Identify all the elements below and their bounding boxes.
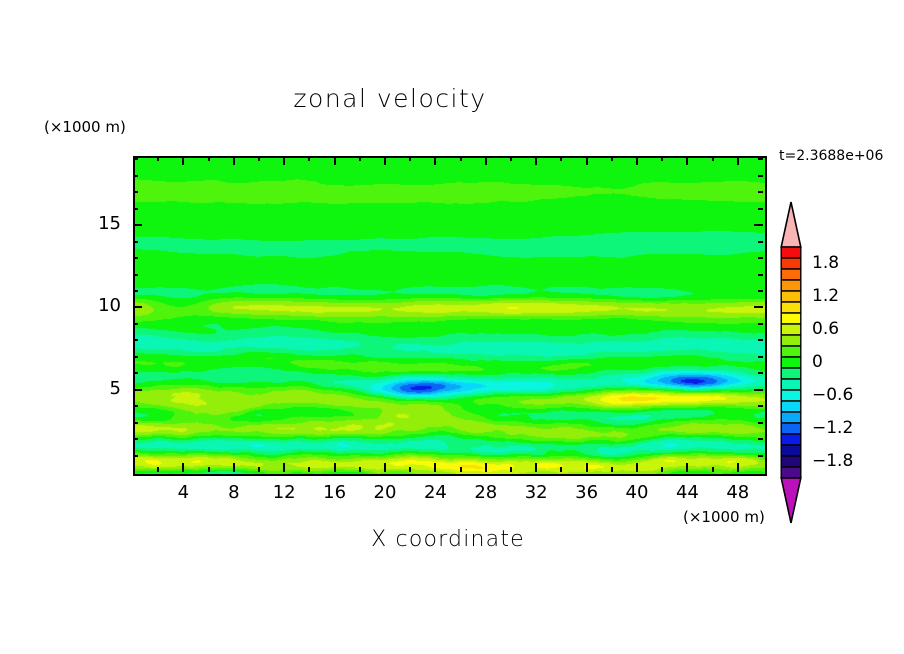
- y-tick: [133, 389, 142, 391]
- colorbar-band: [781, 357, 801, 368]
- colorbar-band: [781, 269, 801, 280]
- x-tick-label: 48: [716, 482, 760, 503]
- y-tick-right: [758, 405, 763, 407]
- colorbar-band: [781, 324, 801, 335]
- colorbar-tick-label: 1.2: [812, 286, 839, 306]
- colorbar-band: [781, 456, 801, 467]
- x-tick: [434, 463, 436, 472]
- x-tick-top: [283, 156, 285, 165]
- x-tick: [334, 463, 336, 472]
- x-tick-top: [712, 156, 714, 161]
- x-tick: [712, 467, 714, 472]
- colorbar-band: [781, 280, 801, 291]
- colorbar-band: [781, 423, 801, 434]
- x-tick-top: [560, 156, 562, 161]
- x-tick: [737, 463, 739, 472]
- velocity-field-heatmap: [135, 158, 765, 474]
- x-tick-top: [308, 156, 310, 161]
- colorbar-band: [781, 258, 801, 269]
- y-tick-right: [754, 306, 763, 308]
- colorbar-band: [781, 302, 801, 313]
- x-tick-label: 20: [363, 482, 407, 503]
- y-tick: [133, 257, 138, 259]
- y-tick: [133, 208, 138, 210]
- x-tick-top: [460, 156, 462, 161]
- x-tick: [409, 467, 411, 472]
- x-tick-label: 40: [615, 482, 659, 503]
- x-tick: [661, 467, 663, 472]
- x-tick-label: 4: [161, 482, 205, 503]
- x-tick-top: [686, 156, 688, 165]
- page-title: zonal velocity: [0, 84, 780, 113]
- colorbar-tick-label: −1.2: [812, 418, 853, 438]
- x-tick: [460, 467, 462, 472]
- colorbar-band: [781, 313, 801, 324]
- y-tick: [133, 339, 138, 341]
- x-tick-top: [586, 156, 588, 165]
- y-tick: [133, 422, 138, 424]
- y-tick: [133, 438, 138, 440]
- x-tick-label: 24: [413, 482, 457, 503]
- y-tick-right: [758, 208, 763, 210]
- x-tick-top: [208, 156, 210, 161]
- x-tick: [283, 463, 285, 472]
- x-tick-top: [737, 156, 739, 165]
- y-tick: [133, 323, 138, 325]
- y-tick: [133, 224, 142, 226]
- x-tick-label: 16: [313, 482, 357, 503]
- figure-canvas: zonal velocity (×1000 m) t=2.3688e+06 48…: [0, 0, 904, 654]
- x-tick-top: [535, 156, 537, 165]
- colorbar-band: [781, 412, 801, 423]
- plot-area: [133, 156, 767, 476]
- x-tick: [182, 463, 184, 472]
- colorbar-band: [781, 291, 801, 302]
- y-tick: [133, 405, 138, 407]
- colorbar-over-arrow: [781, 202, 801, 247]
- x-tick: [686, 463, 688, 472]
- y-tick-right: [758, 438, 763, 440]
- colorbar-tick-label: 1.8: [812, 253, 839, 273]
- y-tick: [133, 158, 138, 160]
- y-tick-right: [758, 422, 763, 424]
- colorbar-band: [781, 247, 801, 258]
- y-tick-right: [758, 257, 763, 259]
- y-tick-right: [758, 339, 763, 341]
- y-tick-right: [758, 274, 763, 276]
- y-tick-right: [754, 224, 763, 226]
- x-tick: [560, 467, 562, 472]
- y-tick: [133, 175, 138, 177]
- x-tick-label: 8: [212, 482, 256, 503]
- y-tick: [133, 306, 142, 308]
- y-tick-right: [758, 372, 763, 374]
- x-tick-label: 44: [665, 482, 709, 503]
- x-tick: [208, 467, 210, 472]
- x-tick-top: [434, 156, 436, 165]
- colorbar-under-arrow: [781, 478, 801, 523]
- y-tick-label: 10: [75, 295, 121, 316]
- x-tick-top: [636, 156, 638, 165]
- colorbar-tick-label: −1.8: [812, 451, 853, 471]
- colorbar: [780, 201, 802, 524]
- x-tick-top: [661, 156, 663, 161]
- x-tick: [359, 467, 361, 472]
- x-tick-label: 32: [514, 482, 558, 503]
- colorbar-band: [781, 390, 801, 401]
- x-axis-unit-label: (×1000 m): [683, 508, 765, 526]
- x-tick: [535, 463, 537, 472]
- x-tick-top: [485, 156, 487, 165]
- y-tick-right: [758, 158, 763, 160]
- y-tick: [133, 191, 138, 193]
- colorbar-band: [781, 445, 801, 456]
- x-tick-top: [157, 156, 159, 161]
- colorbar-band: [781, 434, 801, 445]
- y-tick-right: [758, 356, 763, 358]
- y-tick-label: 15: [75, 213, 121, 234]
- y-tick: [133, 241, 138, 243]
- x-tick-top: [611, 156, 613, 161]
- y-tick: [133, 274, 138, 276]
- colorbar-band: [781, 401, 801, 412]
- colorbar-band: [781, 346, 801, 357]
- y-axis-unit-label: (×1000 m): [44, 118, 126, 136]
- colorbar-band: [781, 368, 801, 379]
- y-tick-right: [758, 290, 763, 292]
- x-tick-label: 36: [565, 482, 609, 503]
- x-tick: [485, 463, 487, 472]
- colorbar-tick-label: 0: [812, 352, 823, 372]
- x-tick: [157, 467, 159, 472]
- x-tick-label: 28: [464, 482, 508, 503]
- x-tick: [586, 463, 588, 472]
- x-tick: [611, 467, 613, 472]
- y-tick-right: [758, 323, 763, 325]
- y-tick-label: 5: [75, 378, 121, 399]
- x-tick-top: [182, 156, 184, 165]
- y-tick: [133, 356, 138, 358]
- y-tick-right: [758, 175, 763, 177]
- colorbar-band: [781, 379, 801, 390]
- x-tick: [308, 467, 310, 472]
- x-axis-title: X coordinate: [133, 527, 763, 552]
- x-tick-top: [258, 156, 260, 161]
- x-tick: [384, 463, 386, 472]
- y-tick-right: [758, 191, 763, 193]
- x-tick: [510, 467, 512, 472]
- x-tick: [636, 463, 638, 472]
- colorbar-band: [781, 335, 801, 346]
- x-tick-top: [334, 156, 336, 165]
- y-tick-right: [754, 389, 763, 391]
- x-tick-top: [510, 156, 512, 161]
- colorbar-tick-label: 0.6: [812, 319, 839, 339]
- colorbar-band: [781, 467, 801, 478]
- y-tick-right: [758, 241, 763, 243]
- x-tick: [233, 463, 235, 472]
- timestamp-annotation: t=2.3688e+06: [779, 148, 883, 164]
- x-tick-top: [384, 156, 386, 165]
- x-tick-top: [359, 156, 361, 161]
- y-tick: [133, 455, 138, 457]
- y-tick: [133, 372, 138, 374]
- x-tick-label: 12: [262, 482, 306, 503]
- x-tick-top: [409, 156, 411, 161]
- x-tick: [258, 467, 260, 472]
- y-tick: [133, 290, 138, 292]
- x-tick-top: [233, 156, 235, 165]
- colorbar-tick-label: −0.6: [812, 385, 853, 405]
- y-tick-right: [758, 455, 763, 457]
- colorbar-gradient: [780, 201, 802, 524]
